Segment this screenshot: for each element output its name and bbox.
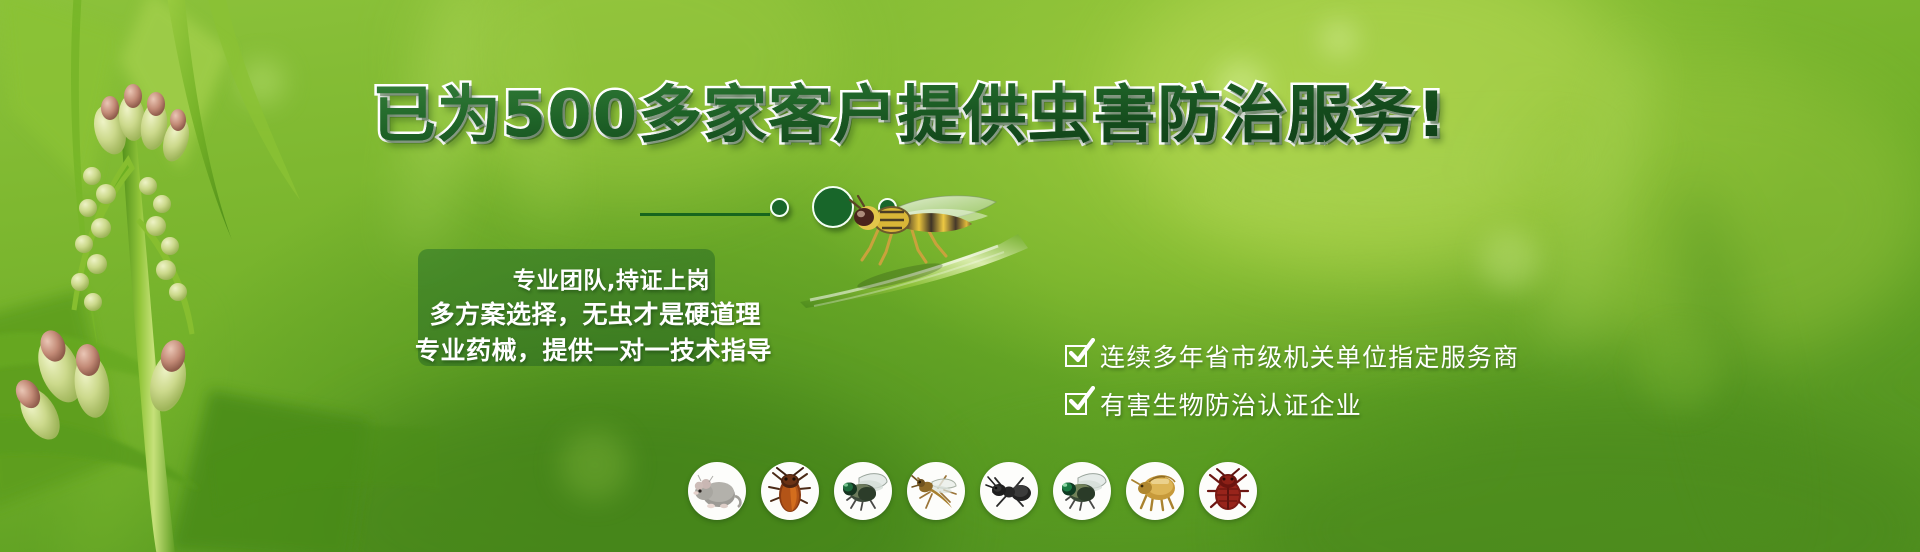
slogan-line-1: 专业团队,持证上岗 <box>513 261 772 295</box>
check-icon <box>1065 393 1087 415</box>
decor-dot-small-left <box>770 198 789 217</box>
hoverfly-icon <box>800 190 1120 310</box>
rodent-icon[interactable] <box>688 462 746 520</box>
flea-icon[interactable] <box>1126 462 1184 520</box>
housefly-icon[interactable] <box>834 462 892 520</box>
slogan-line-3: 专业药械，提供一对一技术指导 <box>415 331 772 367</box>
checklist-item-2: 有害生物防治认证企业 <box>1065 386 1362 422</box>
slogan-list: 专业团队,持证上岗 多方案选择，无虫才是硬道理 专业药械，提供一对一技术指导 <box>352 252 772 370</box>
check-icon <box>1065 345 1087 367</box>
ant-icon[interactable] <box>980 462 1038 520</box>
pest-icon-row <box>688 462 1257 520</box>
promotional-banner: 已为500多家客户提供虫害防治服务! 已为500多家客户提供虫害防治服务! 专业… <box>0 0 1920 552</box>
checklist-text-1: 连续多年省市级机关单位指定服务商 <box>1100 338 1519 374</box>
bedbug-icon[interactable] <box>1199 462 1257 520</box>
slogan-line-2: 多方案选择，无虫才是硬道理 <box>429 295 772 331</box>
cockroach-icon[interactable] <box>761 462 819 520</box>
checklist-text-2: 有害生物防治认证企业 <box>1100 386 1362 422</box>
mosquito-icon[interactable] <box>907 462 965 520</box>
checklist-item-1: 连续多年省市级机关单位指定服务商 <box>1065 338 1519 374</box>
decor-divider-line <box>640 213 770 216</box>
page-title: 已为500多家客户提供虫害防治服务! <box>372 76 1587 154</box>
greenbottle-fly-icon[interactable] <box>1053 462 1111 520</box>
